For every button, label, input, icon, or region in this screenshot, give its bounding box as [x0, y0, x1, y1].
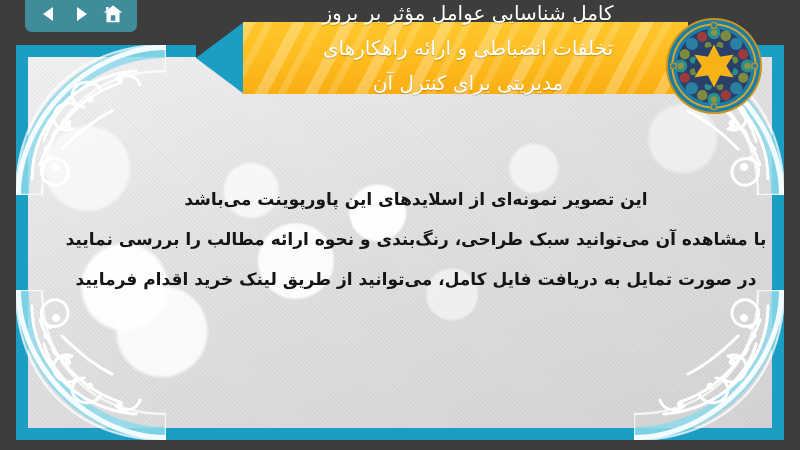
- slide-viewer: این تصویر نمونه‌ای از اسلایدهای این پاور…: [0, 0, 800, 450]
- body-line-2: با مشاهده آن می‌توانید سبک طراحی، رنگ‌بن…: [56, 220, 776, 260]
- back-button[interactable]: [36, 1, 62, 27]
- forward-button[interactable]: [68, 1, 94, 27]
- title-banner: [243, 22, 688, 94]
- persian-medallion-icon: [665, 17, 763, 115]
- home-button[interactable]: [100, 1, 126, 27]
- home-icon: [102, 3, 124, 25]
- navigation-bar: [25, 0, 137, 32]
- body-line-3: در صورت تمایل به دریافت فایل کامل، می‌تو…: [56, 260, 776, 300]
- body-line-1: این تصویر نمونه‌ای از اسلایدهای این پاور…: [56, 180, 776, 220]
- slide-body-text: این تصویر نمونه‌ای از اسلایدهای این پاور…: [56, 180, 776, 300]
- back-arrow-icon: [39, 4, 59, 24]
- forward-arrow-icon: [71, 4, 91, 24]
